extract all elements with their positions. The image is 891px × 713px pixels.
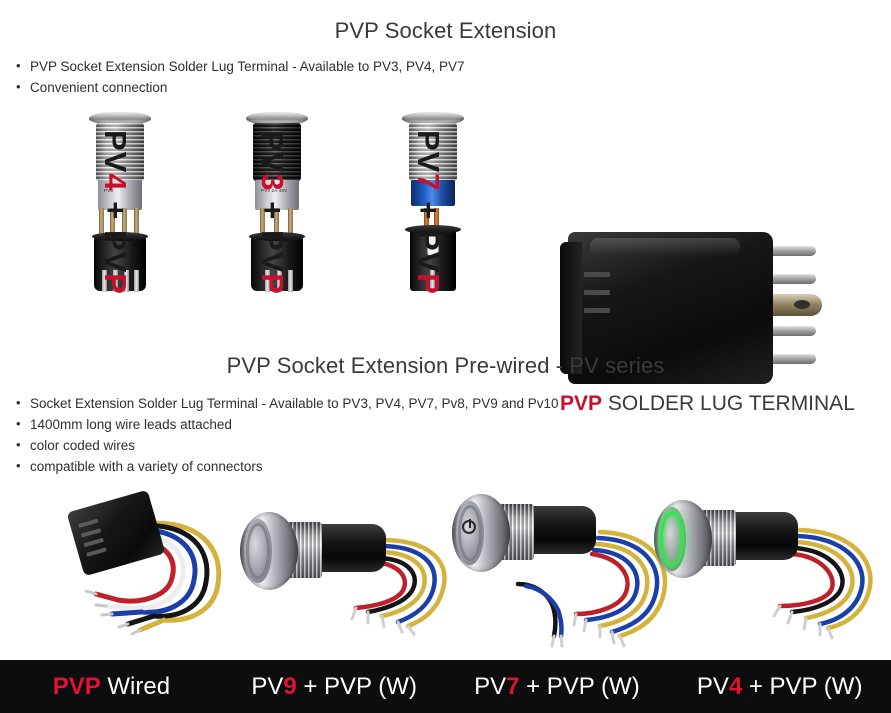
housing-highlight xyxy=(590,238,740,256)
caption-bar-item-1: PVP Wired xyxy=(0,673,223,701)
caption-accent: 4 xyxy=(729,673,742,700)
caption-prefix: PV xyxy=(251,673,283,700)
caption-suffix: + PVP (W) xyxy=(519,673,639,700)
led-ring-icon xyxy=(660,511,684,567)
product-image-pv4-wired xyxy=(650,488,888,656)
feature-list-section-2: Socket Extension Solder Lug Terminal - A… xyxy=(8,393,559,477)
caption-accent: 9 xyxy=(283,673,296,700)
caption-prefix: PV xyxy=(411,130,446,173)
list-item: color coded wires xyxy=(8,435,559,456)
page-title-section-1: PVP Socket Extension xyxy=(0,18,891,44)
pushbutton-head xyxy=(452,494,510,572)
product-row-top: PV4 PV4 + PVP PV xyxy=(0,108,891,318)
solder-lug-caption: PVP SOLDER LUG TERMINAL xyxy=(560,392,860,416)
caption-tail: P xyxy=(411,273,446,295)
caption-prefix: PV xyxy=(474,673,506,700)
product-image-pv4: PV4 PV4 + PVP xyxy=(55,108,185,313)
product-caption-pv3: PV3 + PVP xyxy=(254,130,290,295)
caption-join: + PV xyxy=(255,192,290,274)
pushbutton-head xyxy=(654,500,712,578)
caption-prefix: PV xyxy=(98,130,133,173)
power-symbol-icon xyxy=(462,520,476,534)
caption-suffix: Wired xyxy=(101,673,170,700)
connector-housing xyxy=(67,490,166,577)
list-item: compatible with a variety of connectors xyxy=(8,456,559,477)
pushbutton-head xyxy=(240,512,298,590)
feature-list-section-1: PVP Socket Extension Solder Lug Terminal… xyxy=(8,56,465,98)
caption-suffix: + PVP (W) xyxy=(297,673,417,700)
caption-brand: PVP xyxy=(560,392,602,415)
product-caption-pv7: PV7 + PVP xyxy=(410,130,446,295)
product-caption-pv4: PV4 + PVP xyxy=(97,130,133,295)
list-item: PVP Socket Extension Solder Lug Terminal… xyxy=(8,56,465,77)
page-title-section-2: PVP Socket Extension Pre-wired - PV seri… xyxy=(0,353,891,379)
caption-tail: P xyxy=(255,273,290,295)
caption-bar-item-3: PV7 + PVP (W) xyxy=(446,673,669,701)
product-image-pv7-wired xyxy=(448,488,678,656)
caption-digit: 4 xyxy=(98,173,133,191)
caption-digit: 3 xyxy=(255,173,290,191)
caption-accent: 7 xyxy=(506,673,519,700)
caption-suffix: + PVP (W) xyxy=(742,673,862,700)
product-image-pv3: PV3 2A 48V PV3 + PVP xyxy=(212,108,342,313)
caption-prefix: PV xyxy=(255,130,290,173)
product-image-pv7: PV7 + PVP xyxy=(368,108,498,313)
list-item: Socket Extension Solder Lug Terminal - A… xyxy=(8,393,559,414)
caption-bar-item-2: PV9 + PVP (W) xyxy=(223,673,446,701)
caption-join: + PV xyxy=(98,192,133,274)
caption-tail: P xyxy=(98,273,133,295)
caption-text: SOLDER LUG TERMINAL xyxy=(602,392,855,415)
caption-join: + PV xyxy=(411,192,446,274)
product-row-bottom xyxy=(0,488,891,660)
caption-bar-item-4: PV4 + PVP (W) xyxy=(668,673,891,701)
product-image-pvp-wired xyxy=(12,488,240,656)
caption-accent: PVP xyxy=(53,673,101,700)
caption-bar: PVP Wired PV9 + PVP (W) PV7 + PVP (W) PV… xyxy=(0,660,891,713)
product-image-pv9-wired xyxy=(232,488,462,656)
list-item: 1400mm long wire leads attached xyxy=(8,414,559,435)
caption-digit: 7 xyxy=(411,173,446,191)
product-sheet: PVP Socket Extension PVP Socket Extensio… xyxy=(0,0,891,713)
caption-prefix: PV xyxy=(697,673,729,700)
product-image-solder-lug-terminal: PVP SOLDER LUG TERMINAL xyxy=(560,220,860,410)
list-item: Convenient connection xyxy=(8,77,465,98)
led-ring-icon xyxy=(246,523,270,579)
